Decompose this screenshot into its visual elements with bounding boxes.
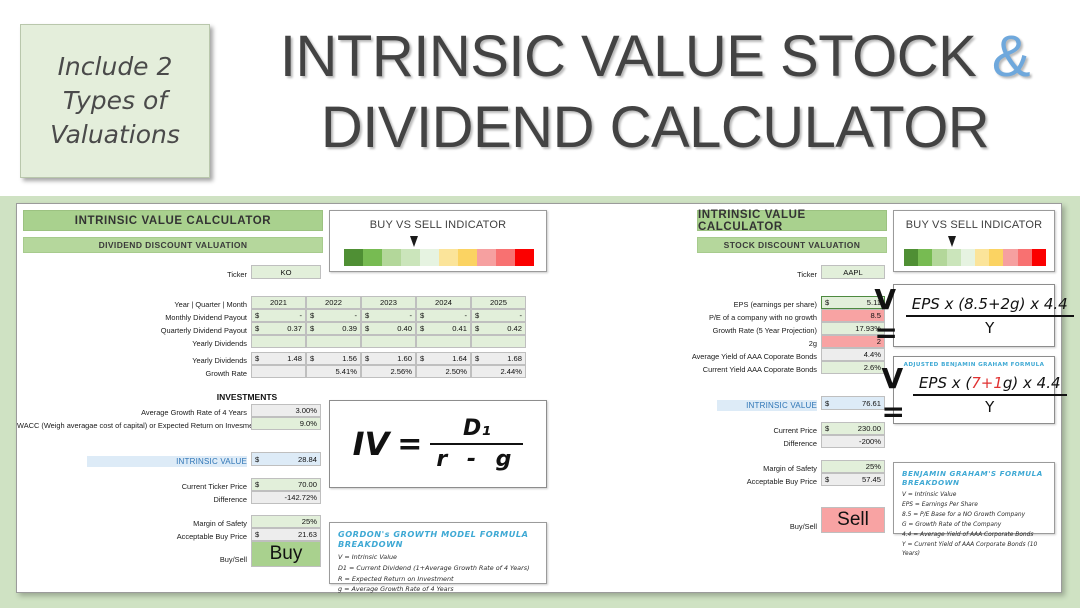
gordon-breakdown-box: GORDON's GROWTH MODEL FORMULA BREAKDOWN … [329, 522, 547, 584]
cell-value: 5.41% [310, 367, 357, 376]
row-label: Difference [707, 438, 817, 449]
data-cell[interactable]: $1.68 [471, 352, 526, 365]
right-verdict-label: Buy/Sell [747, 521, 817, 532]
graham-formula-denominator: Y [979, 317, 1000, 337]
page-title-ampersand: & [992, 24, 1030, 89]
data-cell[interactable]: $- [471, 309, 526, 322]
data-cell[interactable]: $21.63 [251, 528, 321, 541]
breakdown-line: D1 = Current Dividend (1+Average Growth … [338, 564, 538, 573]
left-panel-subheader: DIVIDEND DISCOUNT VALUATION [23, 237, 323, 253]
cell-value: 2022 [310, 298, 357, 307]
breakdown-line: G = Growth Rate of the Company [902, 521, 1046, 530]
cell-value: -200% [825, 437, 881, 446]
left-gauge-strip [344, 249, 534, 266]
data-cell[interactable]: 2.56% [361, 365, 416, 378]
data-cell[interactable]: 2025 [471, 296, 526, 309]
gauge-segment-1 [904, 249, 918, 266]
data-cell[interactable]: $57.45 [821, 473, 885, 486]
row-label: Average Yield of AAA Coporate Bonds [657, 351, 817, 362]
left-intrinsic-label: INTRINSIC VALUE [87, 456, 247, 467]
cell-value: 25% [255, 517, 317, 526]
left-gauge-pointer [410, 236, 418, 247]
data-cell[interactable] [471, 335, 526, 348]
gauge-segment-7 [458, 249, 477, 266]
gauge-segment-4 [401, 249, 420, 266]
left-intrinsic-value: 28.84 [259, 455, 317, 464]
cell-value: 2.50% [420, 367, 467, 376]
row-label: Difference [127, 494, 247, 505]
cell-value: 9.0% [255, 419, 317, 428]
data-cell[interactable]: $0.40 [361, 322, 416, 335]
data-cell[interactable]: 2.50% [416, 365, 471, 378]
right-intrinsic-value-cell: $ 76.61 [821, 396, 885, 410]
breakdown-line: R = Expected Return on Investment [338, 575, 538, 584]
gauge-segment-8 [477, 249, 496, 266]
data-cell[interactable] [306, 335, 361, 348]
cell-value: 3.00% [255, 406, 317, 415]
gauge-segment-7 [989, 249, 1003, 266]
row-label: Current Price [707, 425, 817, 436]
adjusted-formula-lhs: V = [881, 362, 904, 428]
data-cell[interactable]: $0.39 [306, 322, 361, 335]
data-cell[interactable]: 2.44% [471, 365, 526, 378]
gauge-segment-3 [382, 249, 401, 266]
row-label: Yearly Dividends [87, 338, 247, 349]
data-cell[interactable] [251, 335, 306, 348]
cell-value: 17.93% [825, 324, 881, 333]
cell-value: 0.39 [314, 324, 357, 333]
data-cell[interactable]: $- [416, 309, 471, 322]
graham-formula-box: V = EPS x (8.5+2g) x 4.4 Y [893, 284, 1055, 347]
gordon-formula-numerator: D₁ [457, 416, 497, 443]
row-label: Year | Quarter | Month [87, 299, 247, 310]
gauge-segment-8 [1003, 249, 1017, 266]
right-ticker-value: AAPL [825, 268, 881, 277]
valuations-badge: Include 2 Types of Valuations [20, 24, 210, 178]
row-label: Monthly Dividend Payout [87, 312, 247, 323]
cell-value: 2.44% [475, 367, 522, 376]
cell-value: 1.68 [479, 354, 522, 363]
data-cell[interactable] [251, 365, 306, 378]
adjusted-formula-denominator: Y [979, 396, 1000, 416]
gordon-formula-denominator: r - g [430, 445, 523, 472]
adjusted-formula-num-pre: EPS x ( [919, 374, 971, 392]
data-cell[interactable]: 2021 [251, 296, 306, 309]
right-intrinsic-value: 76.61 [829, 399, 881, 408]
data-cell[interactable] [361, 335, 416, 348]
gauge-segment-3 [932, 249, 946, 266]
cell-value: 2 [825, 337, 881, 346]
cell-value: - [424, 311, 467, 320]
badge-line-1: Include 2 [58, 50, 173, 84]
data-cell[interactable]: $0.41 [416, 322, 471, 335]
calculator-sheet: INTRINSIC VALUE CALCULATOR DIVIDEND DISC… [16, 203, 1062, 593]
cell-value: 21.63 [259, 530, 317, 539]
cell-value: 1.48 [259, 354, 302, 363]
cell-value: 1.60 [369, 354, 412, 363]
data-cell[interactable]: $0.37 [251, 322, 306, 335]
right-panel-header: INTRINSIC VALUE CALCULATOR [697, 210, 887, 231]
left-gauge-title: BUY VS SELL INDICATOR [330, 219, 546, 231]
breakdown-line: 4.4 = Average Yield of AAA Corporate Bon… [902, 531, 1046, 540]
gauge-segment-2 [918, 249, 932, 266]
right-gauge-title: BUY VS SELL INDICATOR [894, 219, 1054, 231]
dividend-discount-panel: INTRINSIC VALUE CALCULATOR DIVIDEND DISC… [17, 204, 557, 592]
row-label: Growth Rate [87, 368, 247, 379]
cell-value: - [479, 311, 522, 320]
gauge-segment-10 [1032, 249, 1046, 266]
row-label: EPS (earnings per share) [657, 299, 817, 310]
gauge-segment-1 [344, 249, 363, 266]
adjusted-formula-num-post: g) x 4.4 [1003, 374, 1061, 392]
data-cell[interactable]: $- [306, 309, 361, 322]
row-label: Yearly Dividends [87, 355, 247, 366]
cell-value: 8.5 [825, 311, 881, 320]
row-label: 2g [657, 338, 817, 349]
left-panel-header: INTRINSIC VALUE CALCULATOR [23, 210, 323, 231]
gauge-segment-6 [975, 249, 989, 266]
breakdown-line: V = Intrinsic Value [902, 491, 1046, 500]
row-label: Average Growth Rate of 4 Years [17, 407, 247, 418]
cell-value: 230.00 [829, 424, 881, 433]
row-label: Growth Rate (5 Year Projection) [657, 325, 817, 336]
data-cell[interactable]: 2.6% [821, 361, 885, 374]
data-cell[interactable]: $230.00 [821, 422, 885, 435]
cell-value: - [259, 311, 302, 320]
right-verdict-badge: Sell [821, 507, 885, 533]
data-cell[interactable]: 2024 [416, 296, 471, 309]
gordon-breakdown-lines: V = Intrinsic ValueD1 = Current Dividend… [338, 553, 538, 595]
cell-value: 0.37 [259, 324, 302, 333]
adjusted-formula-caption: ADJUSTED BENJAMIN GRAHAM FORMULA [894, 362, 1054, 368]
cell-value: 57.45 [829, 475, 881, 484]
gauge-segment-5 [420, 249, 439, 266]
cell-value: 1.64 [424, 354, 467, 363]
data-cell[interactable]: 5.41% [306, 365, 361, 378]
right-ticker-label: Ticker [737, 269, 817, 280]
cell-value: - [369, 311, 412, 320]
right-ticker-input[interactable]: AAPL [821, 265, 885, 279]
gordon-formula-box: IV = D₁ r - g [329, 400, 547, 488]
right-gauge-pointer [948, 236, 956, 247]
cell-value: 2.6% [825, 363, 881, 372]
gauge-segment-4 [947, 249, 961, 266]
cell-value: 2021 [255, 298, 302, 307]
row-label: P/E of a company with no growth [657, 312, 817, 323]
cell-value: 2023 [365, 298, 412, 307]
data-cell[interactable]: -200% [821, 435, 885, 448]
left-intrinsic-value-cell: $ 28.84 [251, 452, 321, 466]
data-cell[interactable]: $- [251, 309, 306, 322]
data-cell[interactable]: $1.64 [416, 352, 471, 365]
row-label: Acceptable Buy Price [707, 476, 817, 487]
breakdown-line: V = Intrinsic Value [338, 553, 538, 562]
gordon-formula-lhs: IV [353, 425, 390, 463]
data-cell[interactable]: 2023 [361, 296, 416, 309]
page-title-line-2: DIVIDEND CALCULATOR [245, 93, 1065, 164]
left-verdict-label: Buy/Sell [167, 554, 247, 565]
data-cell[interactable]: 25% [251, 515, 321, 528]
data-cell[interactable]: -142.72% [251, 491, 321, 504]
badge-line-3: Valuations [50, 118, 180, 152]
data-cell[interactable]: 4.4% [821, 348, 885, 361]
data-cell[interactable] [416, 335, 471, 348]
right-intrinsic-label: INTRINSIC VALUE [717, 400, 817, 411]
data-cell[interactable]: $0.42 [471, 322, 526, 335]
badge-line-2: Types of [63, 84, 167, 118]
breakdown-line: Y = Current Yield of AAA Corporate Bonds… [902, 541, 1046, 558]
data-cell[interactable]: $70.00 [251, 478, 321, 491]
cell-value: 0.41 [424, 324, 467, 333]
gauge-segment-10 [515, 249, 534, 266]
investments-caption: INVESTMENTS [187, 392, 307, 402]
page-title: INTRINSIC VALUE STOCK & DIVIDEND CALCULA… [245, 22, 1065, 164]
data-cell[interactable]: 2022 [306, 296, 361, 309]
cell-value: 70.00 [259, 480, 317, 489]
right-gauge-box: BUY VS SELL INDICATOR [893, 210, 1055, 272]
gauge-segment-9 [496, 249, 515, 266]
data-cell[interactable]: 25% [821, 460, 885, 473]
graham-formula-lhs: V = [874, 283, 897, 349]
data-cell[interactable]: 9.0% [251, 417, 321, 430]
cell-value: 0.40 [369, 324, 412, 333]
row-label: Quarterly Dividend Payout [87, 325, 247, 336]
row-label: Current Yield AAA Coporate Bonds [657, 364, 817, 375]
cell-value: 25% [825, 462, 881, 471]
gordon-breakdown-title: GORDON's GROWTH MODEL FORMULA BREAKDOWN [338, 529, 538, 549]
left-gauge-box: BUY VS SELL INDICATOR [329, 210, 547, 272]
cell-value: 4.4% [825, 350, 881, 359]
left-verdict-badge: Buy [251, 541, 321, 567]
data-cell[interactable]: 3.00% [251, 404, 321, 417]
data-cell[interactable]: $- [361, 309, 416, 322]
data-cell[interactable]: $1.56 [306, 352, 361, 365]
left-ticker-value: KO [255, 268, 317, 277]
header-band: Include 2 Types of Valuations INTRINSIC … [0, 0, 1080, 196]
graham-breakdown-title: BENJAMIN GRAHAM'S FORMULA BREAKDOWN [902, 469, 1046, 487]
graham-breakdown-box: BENJAMIN GRAHAM'S FORMULA BREAKDOWN V = … [893, 462, 1055, 534]
row-label: Current Ticker Price [127, 481, 247, 492]
cell-value: 0.42 [479, 324, 522, 333]
cell-value: - [314, 311, 357, 320]
gauge-segment-6 [439, 249, 458, 266]
data-cell[interactable]: $1.60 [361, 352, 416, 365]
row-label: Margin of Safety [707, 463, 817, 474]
stock-discount-panel: INTRINSIC VALUE CALCULATOR STOCK DISCOUN… [557, 204, 1061, 592]
data-cell[interactable]: $1.48 [251, 352, 306, 365]
row-label: WACC (Weigh averagae cost of capital) or… [17, 420, 247, 431]
right-panel-subheader: STOCK DISCOUNT VALUATION [697, 237, 887, 253]
breakdown-line: g = Average Growth Rate of 4 Years [338, 585, 538, 594]
left-ticker-label: Ticker [137, 269, 247, 280]
cell-value: 2025 [475, 298, 522, 307]
right-gauge-strip [904, 249, 1046, 266]
graham-formula-numerator: EPS x (8.5+2g) x 4.4 [906, 295, 1074, 315]
breakdown-line: EPS = Earnings Per Share [902, 501, 1046, 510]
gauge-segment-9 [1018, 249, 1032, 266]
graham-breakdown-lines: V = Intrinsic ValueEPS = Earnings Per Sh… [902, 491, 1046, 558]
page-title-line-1: INTRINSIC VALUE STOCK [280, 24, 976, 89]
cell-value: -142.72% [255, 493, 317, 502]
adjusted-formula-num-red: 7+1 [971, 374, 1003, 392]
cell-value: 1.56 [314, 354, 357, 363]
row-label: Acceptable Buy Price [127, 531, 247, 542]
breakdown-line: 8.5 = P/E Base for a NO Growth Company [902, 511, 1046, 520]
gauge-segment-5 [961, 249, 975, 266]
left-ticker-input[interactable]: KO [251, 265, 321, 279]
cell-value: 2024 [420, 298, 467, 307]
cell-value: 2.56% [365, 367, 412, 376]
row-label: Margin of Safety [127, 518, 247, 529]
cell-value: 5.11 [829, 298, 881, 307]
gauge-segment-2 [363, 249, 382, 266]
adjusted-graham-formula-box: ADJUSTED BENJAMIN GRAHAM FORMULA V = EPS… [893, 356, 1055, 424]
